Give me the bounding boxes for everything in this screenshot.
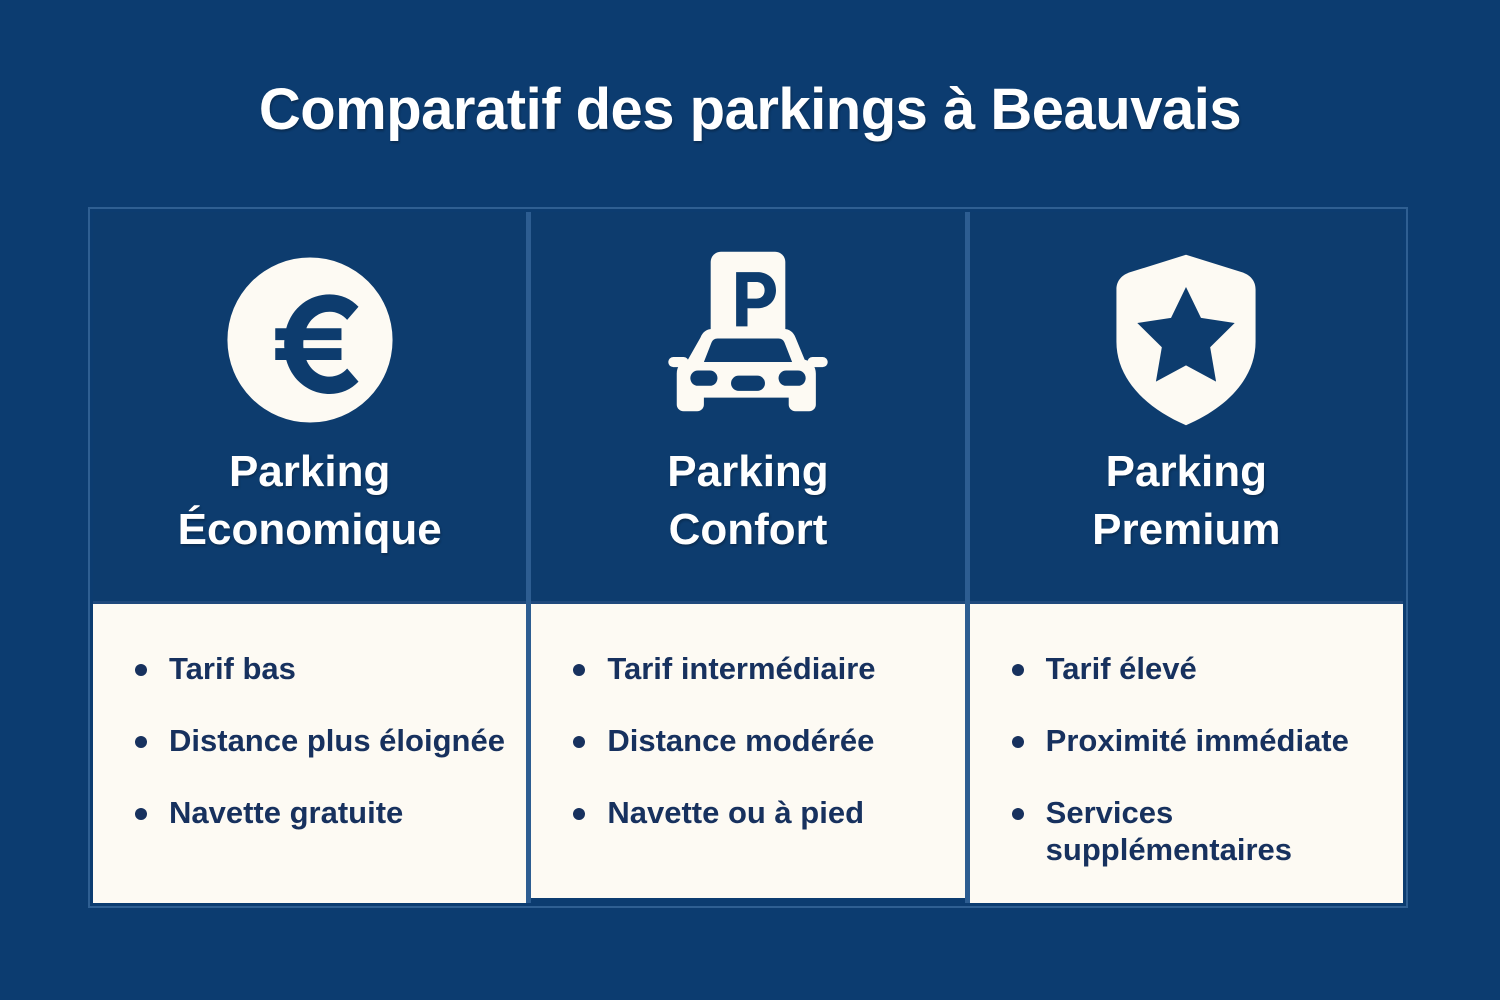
list-item: Distance plus éloignée	[131, 722, 508, 760]
list-item: Navette gratuite	[131, 794, 508, 832]
shield-star-icon	[1106, 242, 1266, 437]
column-header-premium: Parking Premium	[970, 212, 1403, 601]
feature-list-premium: Tarif élevé Proximité immédiate Services…	[1008, 650, 1385, 869]
feature-list-confort: Tarif intermédiaire Distance modérée Nav…	[569, 650, 946, 831]
list-item: Tarif bas	[131, 650, 508, 688]
comparison-column-economique[interactable]: Parking Économique Tarif bas Distance pl…	[93, 212, 531, 903]
column-header-confort: Parking Confort	[531, 212, 964, 601]
feature-list-economique: Tarif bas Distance plus éloignée Navette…	[131, 650, 508, 831]
column-body-premium: Tarif élevé Proximité immédiate Services…	[970, 601, 1403, 903]
list-item: Proximité immédiate	[1008, 722, 1385, 760]
column-title-line1: Parking	[229, 447, 390, 496]
list-item: Services supplémentaires	[1008, 794, 1385, 870]
comparison-column-premium[interactable]: Parking Premium Tarif élevé Proximité im…	[970, 212, 1403, 903]
column-title-line2: Premium	[1092, 505, 1280, 554]
list-item: Tarif intermédiaire	[569, 650, 946, 688]
list-item: Navette ou à pied	[569, 794, 946, 832]
column-body-confort: Tarif intermédiaire Distance modérée Nav…	[531, 601, 964, 898]
parking-car-icon	[659, 242, 837, 437]
comparison-table: Parking Économique Tarif bas Distance pl…	[88, 207, 1408, 908]
column-title-line2: Économique	[178, 505, 442, 554]
column-title-line1: Parking	[1106, 447, 1267, 496]
column-title-line2: Confort	[669, 505, 828, 554]
euro-coin-icon	[224, 242, 396, 437]
column-header-economique: Parking Économique	[93, 212, 526, 601]
column-body-economique: Tarif bas Distance plus éloignée Navette…	[93, 601, 526, 903]
comparison-table-inner: Parking Économique Tarif bas Distance pl…	[93, 212, 1403, 903]
column-title-confort: Parking Confort	[657, 443, 838, 559]
list-item: Tarif élevé	[1008, 650, 1385, 688]
column-title-premium: Parking Premium	[1082, 443, 1290, 559]
comparison-column-confort[interactable]: Parking Confort Tarif intermédiaire Dist…	[531, 212, 969, 903]
page-title: Comparatif des parkings à Beauvais	[0, 78, 1500, 142]
list-item: Distance modérée	[569, 722, 946, 760]
column-title-line1: Parking	[667, 447, 828, 496]
column-title-economique: Parking Économique	[168, 443, 452, 559]
page-title-text: Comparatif des parkings à Beauvais	[259, 77, 1241, 142]
